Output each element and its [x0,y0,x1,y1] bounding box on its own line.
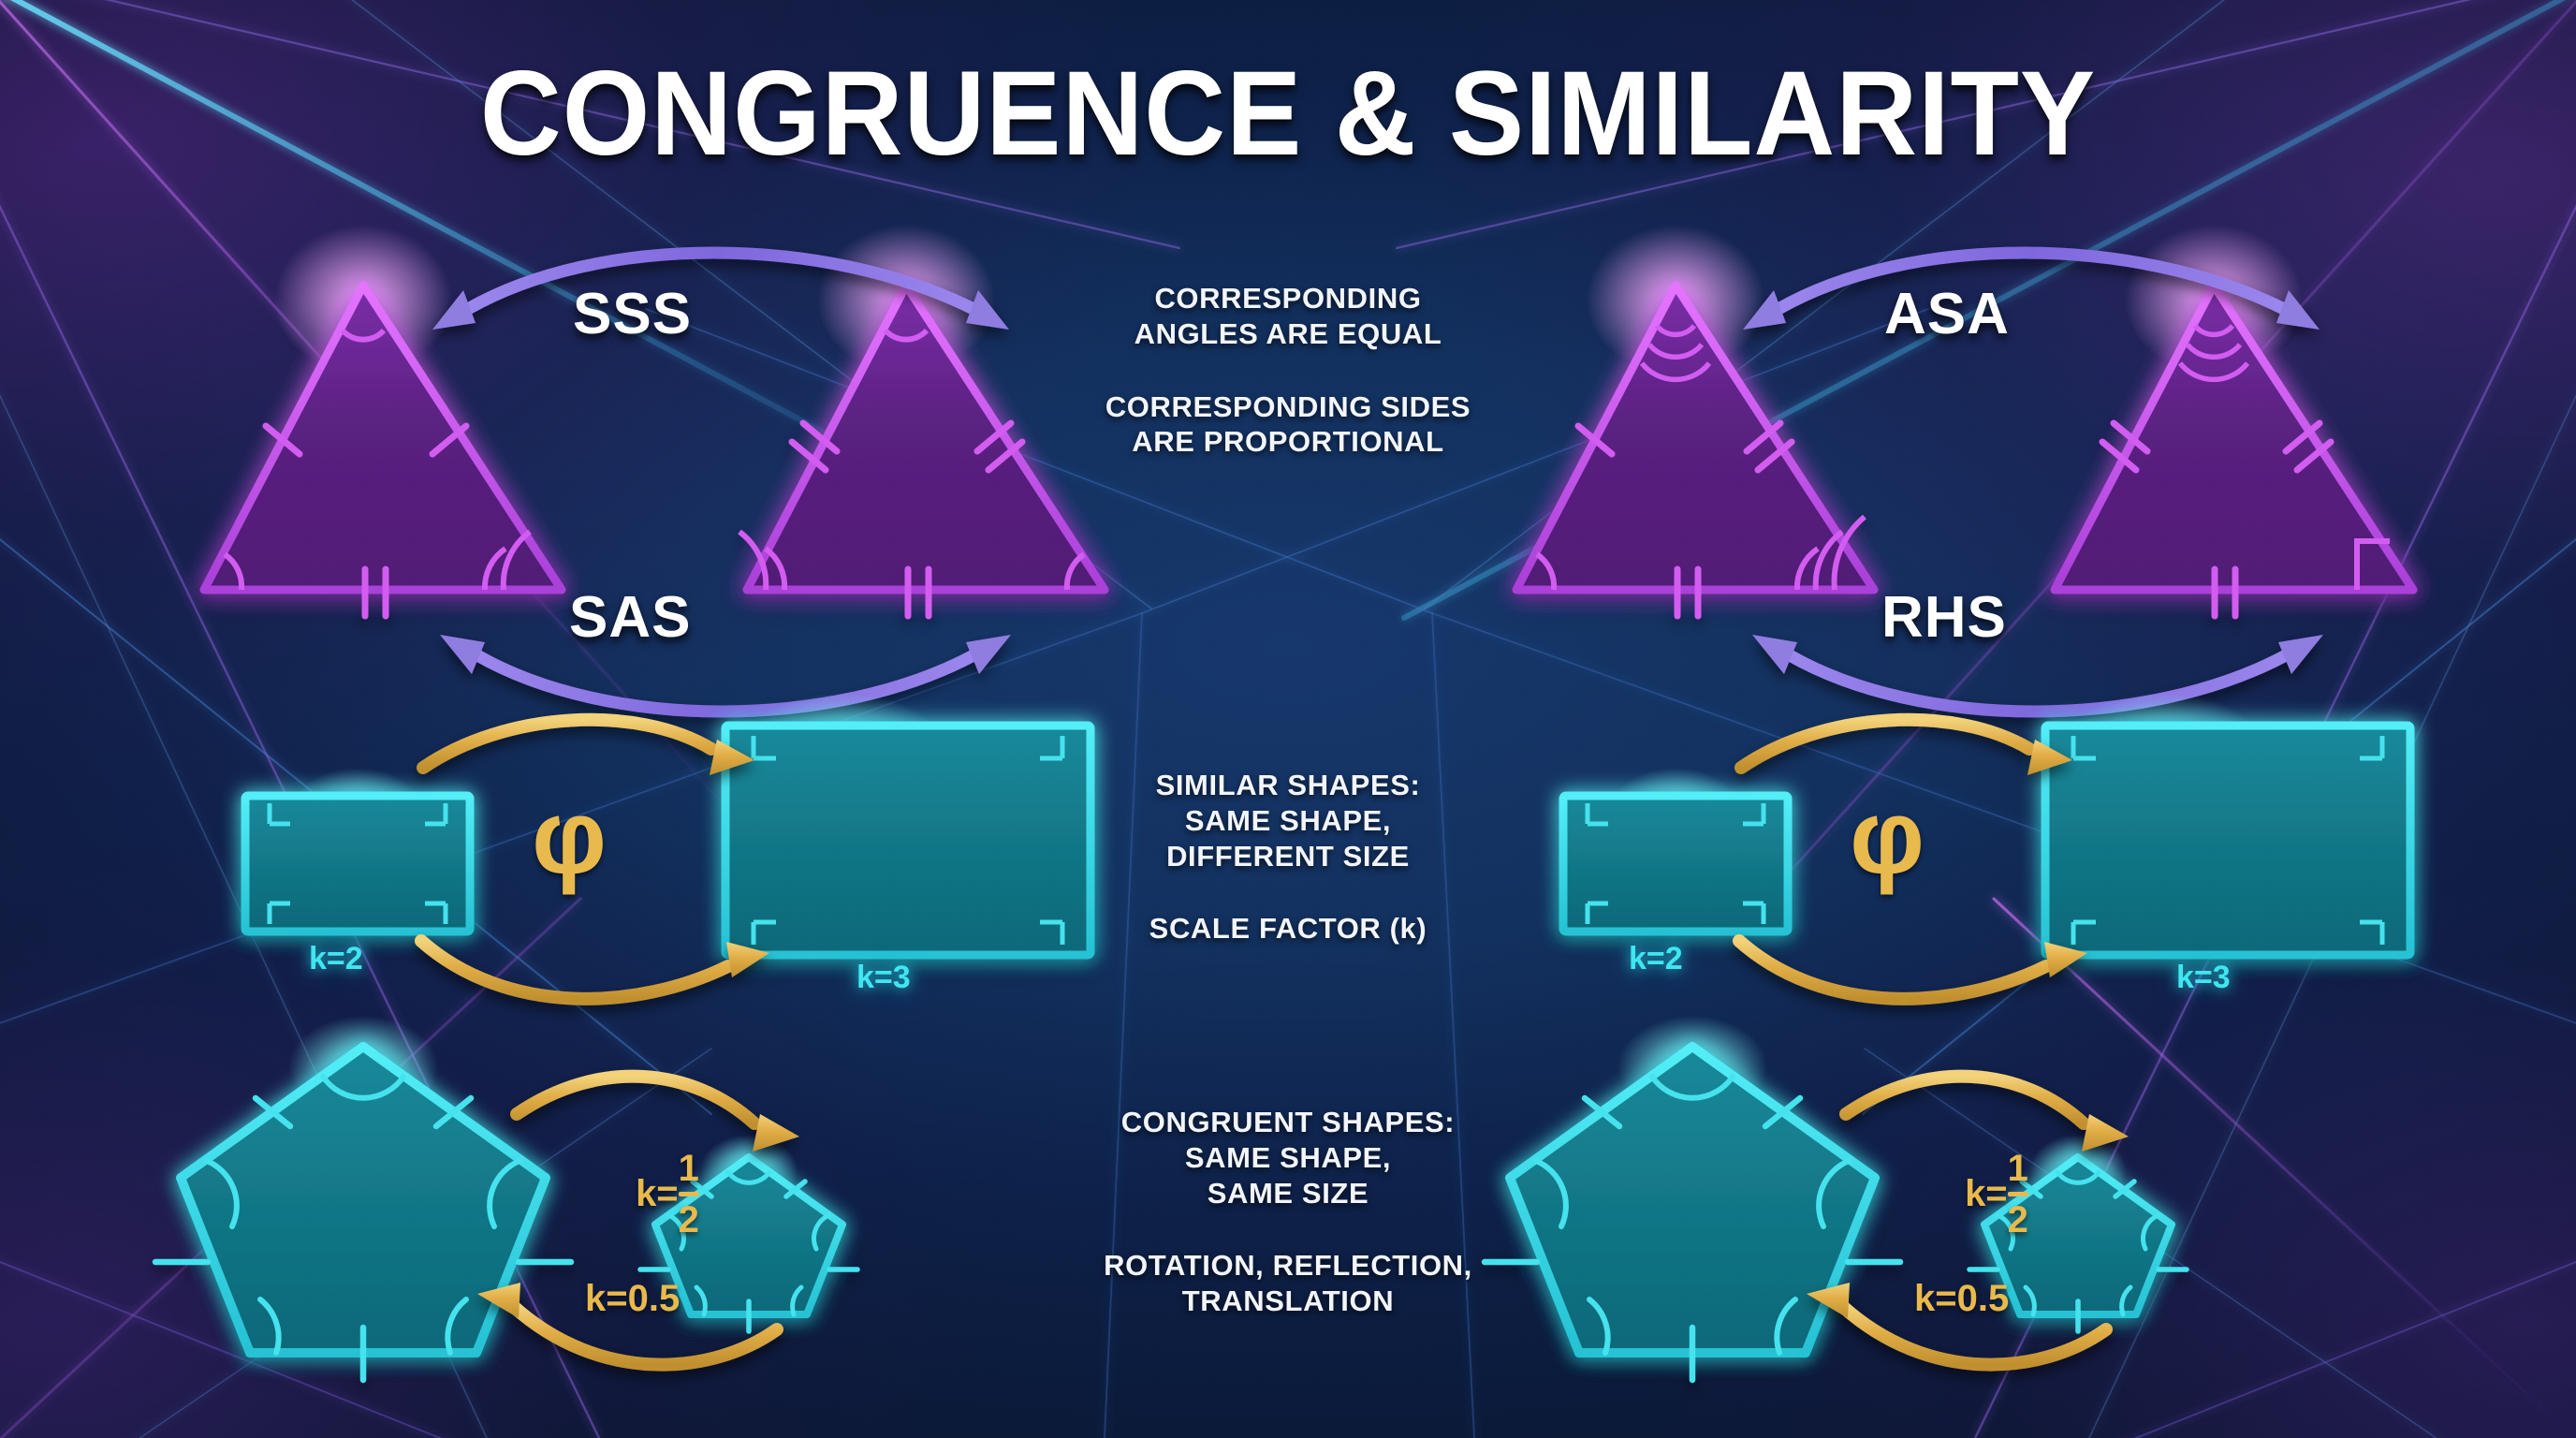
texture-overlay [0,0,2576,1438]
infographic-canvas: CONGRUENCE & SIMILARITY SSS SAS ASA RHS … [0,0,2576,1438]
